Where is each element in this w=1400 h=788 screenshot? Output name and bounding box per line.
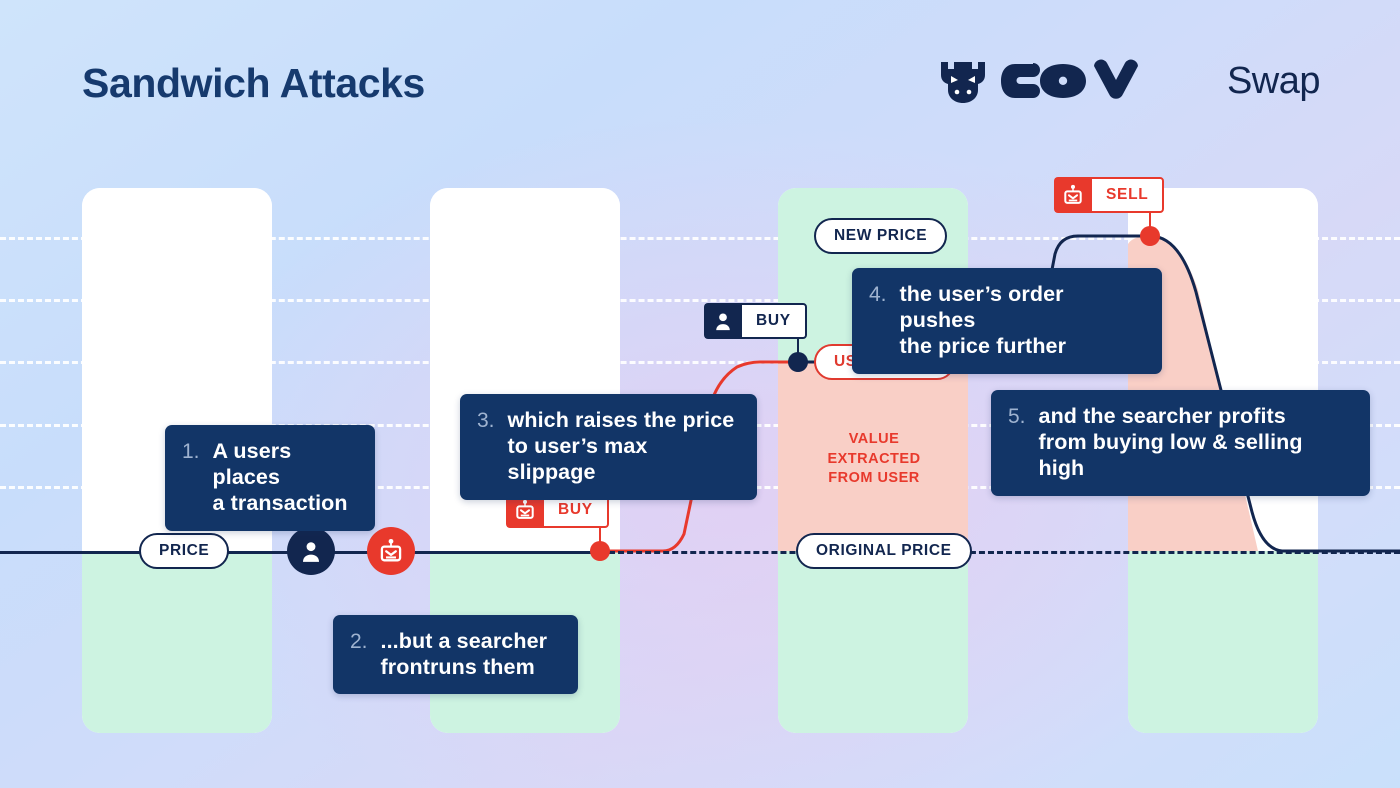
new-price-label-pill: NEW PRICE: [814, 218, 947, 254]
user-buy-label: BUY: [740, 303, 807, 339]
original-price-label-text: ORIGINAL PRICE: [816, 542, 952, 560]
callout-4-number: 4.: [869, 281, 887, 308]
user-buy-badge[interactable]: BUY: [704, 303, 807, 339]
robot-icon-badge-sell: [1054, 177, 1090, 213]
searcher-sell-badge[interactable]: SELL: [1054, 177, 1164, 213]
callout-5-number: 5.: [1008, 403, 1026, 430]
original-price-dashed-line: [600, 551, 1400, 554]
person-icon-badge-buy: [704, 303, 740, 339]
searcher-sell-label: SELL: [1090, 177, 1164, 213]
callout-4-text: the user’s order pushes the price furthe…: [900, 281, 1143, 360]
price-label-pill: PRICE: [139, 533, 229, 569]
cow-wordmark-icon: [1000, 59, 1216, 103]
callout-3-number: 3.: [477, 407, 495, 434]
new-price-label-text: NEW PRICE: [834, 227, 927, 245]
candle-4-lower: [1128, 551, 1318, 733]
person-icon: [712, 310, 734, 332]
sandwich-attack-diagram: PRICE NEW PRICE USER PRICE ORIGINAL PRIC…: [0, 0, 1400, 788]
robot-icon: [378, 538, 404, 564]
user-buy-stem: [797, 337, 799, 363]
logo-swap-text: Swap: [1227, 60, 1320, 103]
callout-step-4: 4. the user’s order pushes the price fur…: [852, 268, 1162, 374]
callout-1-text: A users places a transaction: [213, 438, 356, 517]
cow-swap-logo: Swap: [937, 56, 1320, 106]
callout-step-1: 1. A users places a transaction: [165, 425, 375, 531]
price-label-text: PRICE: [159, 542, 209, 560]
callout-1-number: 1.: [182, 438, 200, 465]
cow-head-icon: [937, 56, 989, 106]
searcher-sell-stem: [1149, 210, 1151, 238]
candle-1-lower: [82, 551, 272, 733]
callout-2-text: ...but a searcher frontruns them: [381, 628, 548, 680]
searcher-avatar: [367, 527, 415, 575]
person-icon: [298, 538, 324, 564]
candle-3-lower-mint: [778, 551, 968, 733]
callout-step-2: 2. ...but a searcher frontruns them: [333, 615, 578, 694]
callout-step-5: 5. and the searcher profits from buying …: [991, 390, 1370, 496]
callout-step-3: 3. which raises the price to user’s max …: [460, 394, 757, 500]
robot-icon: [1062, 184, 1084, 206]
page-title: Sandwich Attacks: [82, 60, 425, 107]
robot-icon: [514, 499, 536, 521]
callout-2-number: 2.: [350, 628, 368, 655]
callout-5-text: and the searcher profits from buying low…: [1039, 403, 1351, 482]
user-avatar: [287, 527, 335, 575]
searcher-buy-stem: [599, 524, 601, 552]
value-extracted-label: VALUE EXTRACTED FROM USER: [803, 430, 945, 489]
original-price-label-pill: ORIGINAL PRICE: [796, 533, 972, 569]
callout-3-text: which raises the price to user’s max sli…: [508, 407, 738, 486]
